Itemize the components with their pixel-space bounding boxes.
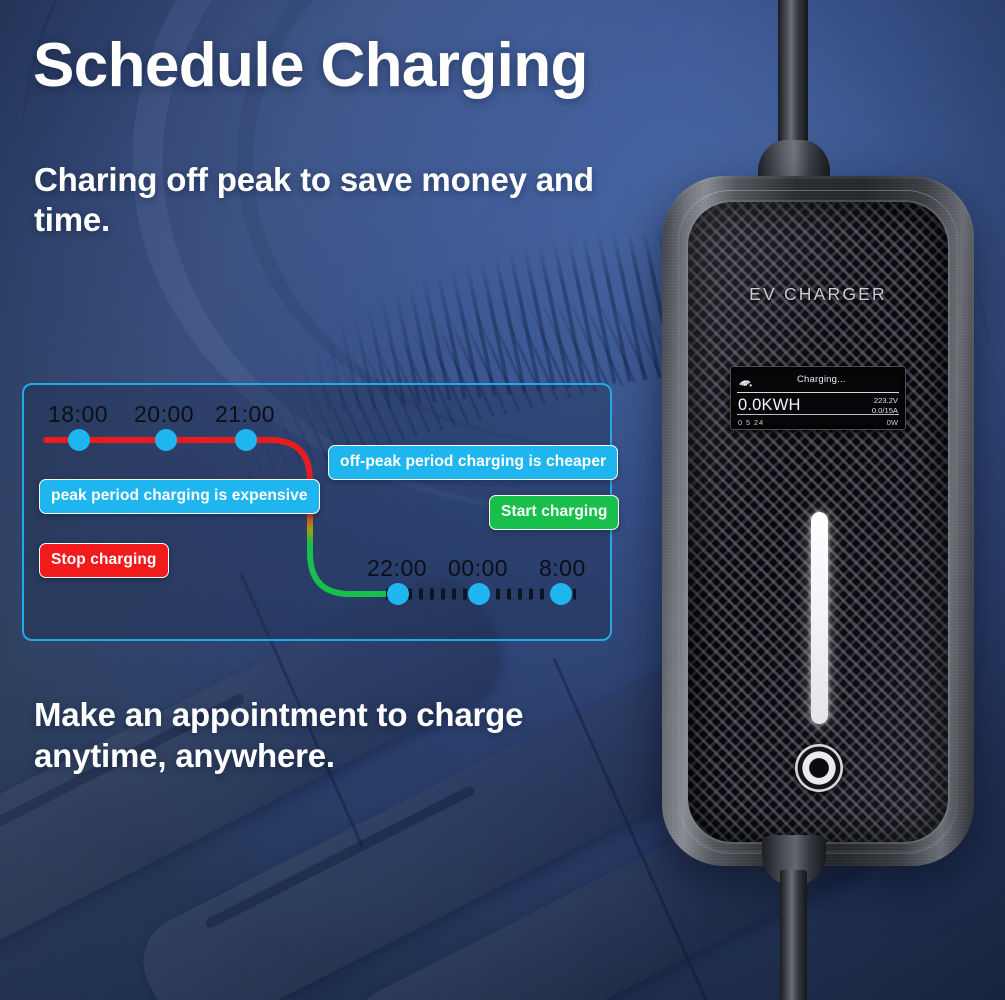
timeline-dot-offpeak-3[interactable] — [550, 583, 572, 605]
subtitle-text: Charing off peak to save money and time. — [34, 160, 674, 241]
time-label-peak-2: 20:00 — [134, 401, 194, 428]
page-title: Schedule Charging — [33, 30, 588, 101]
time-label-offpeak-2: 00:00 — [448, 555, 508, 582]
lcd-energy-value: 0.0KWH — [738, 396, 801, 415]
footer-tagline: Make an appointment to charge anytime, a… — [34, 694, 634, 777]
timeline-dot-peak-3[interactable] — [235, 429, 257, 451]
brand-label: EV CHARGER — [688, 284, 948, 305]
power-cable-bottom — [780, 870, 807, 1000]
lcd-voltage-current: 223.2V 0.0/15A — [872, 396, 898, 415]
lcd-display[interactable]: Charging... 0.0KWH 223.2V 0.0/15A 0 5 24… — [730, 366, 906, 430]
timeline-dot-offpeak-2[interactable] — [468, 583, 490, 605]
lcd-divider-bottom — [737, 414, 899, 415]
schedule-diagram-panel: 18:00 20:00 21:00 22:00 00:00 8:00 peak … — [22, 383, 612, 641]
time-label-peak-3: 21:00 — [215, 401, 275, 428]
wifi-icon — [738, 374, 753, 392]
timeline-dot-offpeak-1[interactable] — [387, 583, 409, 605]
lcd-divider-top — [737, 392, 899, 393]
led-indicator — [811, 512, 828, 724]
start-charging-button[interactable]: Start charging — [489, 495, 619, 530]
lcd-status-row: Charging... — [731, 370, 905, 389]
timeline-dot-peak-1[interactable] — [68, 429, 90, 451]
lcd-power-value: 0W — [887, 418, 898, 427]
lcd-voltage-value: 223.2V — [872, 396, 898, 406]
time-label-peak-1: 18:00 — [48, 401, 108, 428]
power-button[interactable] — [795, 744, 843, 792]
timeline-dot-peak-2[interactable] — [155, 429, 177, 451]
badge-peak-note[interactable]: peak period charging is expensive — [39, 479, 320, 514]
ev-charger-device: EV CHARGER Charging... 0.0KWH — [630, 0, 1005, 1000]
time-label-offpeak-1: 22:00 — [367, 555, 427, 582]
lcd-status-text: Charging... — [797, 374, 846, 385]
lcd-timer-value: 0 5 24 — [738, 418, 764, 427]
badge-offpeak-note[interactable]: off-peak period charging is cheaper — [328, 445, 618, 480]
carbon-fiber-front-panel: EV CHARGER Charging... 0.0KWH — [688, 202, 948, 842]
stop-charging-button[interactable]: Stop charging — [39, 543, 169, 578]
time-label-offpeak-3: 8:00 — [539, 555, 586, 582]
